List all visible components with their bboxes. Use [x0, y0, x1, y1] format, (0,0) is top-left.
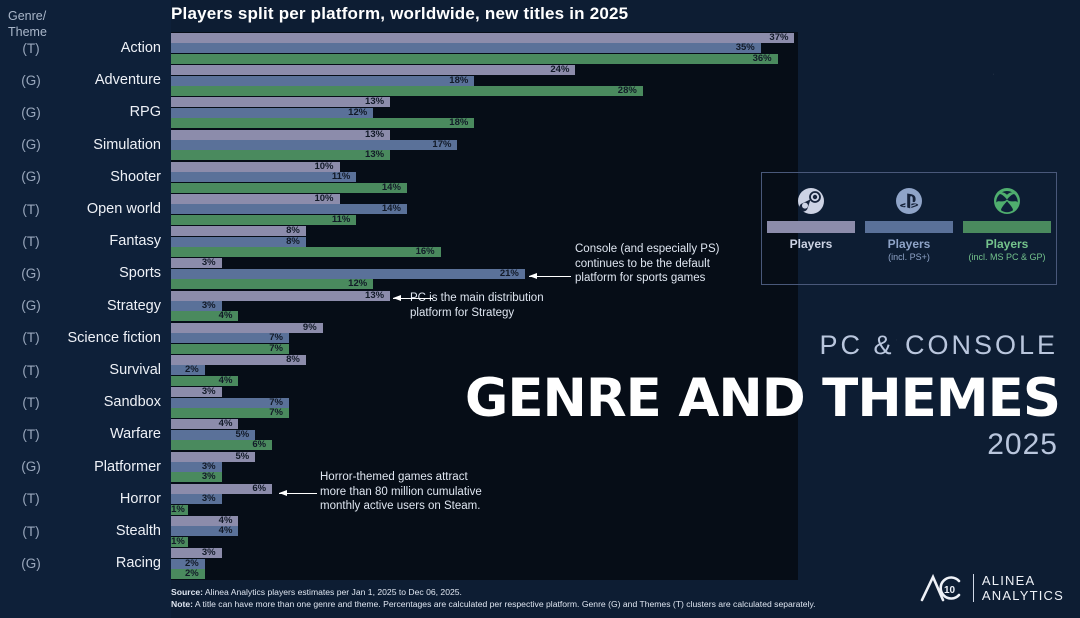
- alinea-analytics-logo: 10 ALINEA ANALYTICS: [919, 572, 1064, 604]
- bar-shooter-playstation: 11%: [171, 172, 356, 182]
- category-cluster-tag: (T): [0, 234, 62, 249]
- category-row: (G)Platformer: [0, 451, 171, 483]
- category-cluster-tag: (T): [0, 330, 62, 345]
- year-title: 2025: [987, 428, 1058, 462]
- category-label: Racing: [62, 555, 171, 571]
- category-row: (T)Warfare: [0, 418, 171, 450]
- bar-value-label: 2%: [185, 568, 199, 580]
- legend-label: Players: [767, 237, 855, 251]
- bar-value-label: 11%: [332, 171, 351, 183]
- footer-note-label: Note:: [171, 599, 193, 609]
- annotation-arrow-sports: [529, 276, 571, 277]
- bar-value-label: 3%: [202, 300, 216, 312]
- bar-shooter-steam: 10%: [171, 162, 340, 172]
- bar-value-label: 3%: [202, 493, 216, 505]
- category-row: (G)Adventure: [0, 64, 171, 96]
- footer-note: Note: A title can have more than one gen…: [171, 599, 931, 611]
- category-row: (T)Open world: [0, 193, 171, 225]
- bar-value-label: 13%: [365, 149, 384, 161]
- bar-value-label: 3%: [202, 257, 216, 269]
- bar-rpg-xbox: 18%: [171, 118, 474, 128]
- category-label: Simulation: [62, 137, 171, 153]
- bar-action-xbox: 36%: [171, 54, 778, 64]
- category-cluster-tag: (G): [0, 459, 62, 474]
- bar-value-label: 18%: [449, 117, 468, 129]
- bar-value-label: 18%: [449, 75, 468, 87]
- footer-source-text: Alinea Analytics players estimates per J…: [203, 587, 462, 597]
- bar-sandbox-steam: 3%: [171, 387, 222, 397]
- category-row: (G)Simulation: [0, 129, 171, 161]
- category-label: Platformer: [62, 459, 171, 475]
- sports-note-line-1: Console (and especially PS): [575, 242, 750, 257]
- bar-warfare-xbox: 6%: [171, 440, 272, 450]
- category-label: Horror: [62, 491, 171, 507]
- kicker-title: PC & CONSOLE: [819, 330, 1058, 361]
- bar-value-label: 4%: [219, 418, 233, 430]
- legend-item-playstation[interactable]: Players(incl. PS+): [865, 183, 953, 262]
- category-row: (G)Racing: [0, 547, 171, 579]
- bar-action-playstation: 35%: [171, 43, 761, 53]
- category-label: RPG: [62, 104, 171, 120]
- legend-sublabel: (incl. MS PC & GP): [963, 252, 1051, 262]
- logo-line-2: ANALYTICS: [982, 588, 1064, 603]
- bar-value-label: 17%: [432, 139, 451, 151]
- bar-simulation-steam: 13%: [171, 130, 390, 140]
- bar-value-label: 7%: [269, 407, 283, 419]
- xbox-icon: [963, 183, 1051, 219]
- category-row: (T)Action: [0, 32, 171, 64]
- category-cluster-tag: (T): [0, 524, 62, 539]
- footer-notes: Source: Alinea Analytics players estimat…: [171, 587, 931, 610]
- footer-source: Source: Alinea Analytics players estimat…: [171, 587, 931, 599]
- bar-value-label: 3%: [202, 386, 216, 398]
- category-label: Action: [62, 40, 171, 56]
- bar-strategy-xbox: 4%: [171, 311, 238, 321]
- category-label: Fantasy: [62, 233, 171, 249]
- bar-value-label: 12%: [348, 278, 367, 290]
- category-label: Stealth: [62, 523, 171, 539]
- annotation-sports: Console (and especially PS)continues to …: [575, 242, 750, 286]
- category-label: Shooter: [62, 169, 171, 185]
- bar-action-steam: 37%: [171, 33, 794, 43]
- bar-value-label: 12%: [348, 107, 367, 119]
- category-cluster-tag: (T): [0, 41, 62, 56]
- bar-value-label: 8%: [286, 354, 300, 366]
- bar-value-label: 2%: [185, 364, 199, 376]
- bar-platformer-xbox: 3%: [171, 472, 222, 482]
- legend-color-swatch: [767, 221, 855, 233]
- bar-open-world-playstation: 14%: [171, 204, 407, 214]
- category-label: Adventure: [62, 72, 171, 88]
- bar-warfare-playstation: 5%: [171, 430, 255, 440]
- category-cluster-tag: (G): [0, 105, 62, 120]
- category-cluster-tag: (G): [0, 137, 62, 152]
- bar-value-label: 9%: [303, 322, 317, 334]
- main-title: GENRE AND THEMES: [465, 368, 1060, 429]
- bar-adventure-xbox: 28%: [171, 86, 643, 96]
- legend-color-swatch: [963, 221, 1051, 233]
- bar-science-fiction-xbox: 7%: [171, 344, 289, 354]
- bar-value-label: 14%: [382, 182, 401, 194]
- horror-note-line-2: more than 80 million cumulative: [320, 485, 540, 500]
- annotation-strategy: PC is the main distributionplatform for …: [410, 291, 610, 320]
- bar-simulation-xbox: 13%: [171, 150, 390, 160]
- category-label: Sandbox: [62, 394, 171, 410]
- bar-simulation-playstation: 17%: [171, 140, 457, 150]
- category-row: (G)RPG: [0, 96, 171, 128]
- bar-value-label: 36%: [753, 53, 772, 65]
- bar-rpg-playstation: 12%: [171, 108, 373, 118]
- bar-value-label: 1%: [171, 504, 185, 516]
- category-label: Survival: [62, 362, 171, 378]
- category-cluster-tag: (G): [0, 73, 62, 88]
- horror-note-line-1: Horror-themed games attract: [320, 470, 540, 485]
- bar-value-label: 24%: [550, 64, 569, 76]
- bar-sports-xbox: 12%: [171, 279, 373, 289]
- category-cluster-tag: (T): [0, 202, 62, 217]
- category-label: Sports: [62, 265, 171, 281]
- bar-value-label: 16%: [416, 246, 435, 258]
- bar-value-label: 3%: [202, 547, 216, 559]
- bar-value-label: 13%: [365, 290, 384, 302]
- bar-sandbox-xbox: 7%: [171, 408, 289, 418]
- bar-value-label: 37%: [769, 32, 788, 44]
- category-cluster-tag: (G): [0, 556, 62, 571]
- legend-item-steam[interactable]: Players: [767, 183, 855, 252]
- strategy-note-line-2: platform for Strategy: [410, 306, 610, 321]
- legend-item-xbox[interactable]: Players(incl. MS PC & GP): [963, 183, 1051, 262]
- bar-value-label: 14%: [382, 203, 401, 215]
- bar-fantasy-playstation: 8%: [171, 237, 306, 247]
- bar-value-label: 13%: [365, 96, 384, 108]
- annotation-arrow-horror: [279, 493, 317, 494]
- bar-racing-xbox: 2%: [171, 569, 205, 579]
- chart-title: Players split per platform, worldwide, n…: [171, 4, 628, 24]
- category-cluster-tag: (G): [0, 298, 62, 313]
- bar-strategy-playstation: 3%: [171, 301, 222, 311]
- legend-sublabel: (incl. PS+): [865, 252, 953, 262]
- strategy-note-line-1: PC is the main distribution: [410, 291, 610, 306]
- category-label: Strategy: [62, 298, 171, 314]
- annotation-horror: Horror-themed games attractmore than 80 …: [320, 470, 540, 514]
- bar-value-label: 5%: [236, 429, 250, 441]
- footer-source-label: Source:: [171, 587, 203, 597]
- logo-wordmark: ALINEA ANALYTICS: [982, 573, 1064, 603]
- bar-survival-playstation: 2%: [171, 365, 205, 375]
- legend-label: Players: [865, 237, 953, 251]
- steam-icon: [767, 183, 855, 219]
- category-label: Warfare: [62, 426, 171, 442]
- logo-divider: [973, 574, 974, 602]
- playstation-icon: [865, 183, 953, 219]
- bar-science-fiction-steam: 9%: [171, 323, 323, 333]
- sports-note-line-3: platform for sports games: [575, 271, 750, 286]
- legend-color-swatch: [865, 221, 953, 233]
- bar-open-world-steam: 10%: [171, 194, 340, 204]
- category-row: (G)Strategy: [0, 290, 171, 322]
- bar-stealth-xbox: 1%: [171, 537, 188, 547]
- category-row: (T)Science fiction: [0, 322, 171, 354]
- category-label: Science fiction: [62, 330, 171, 346]
- bar-value-label: 7%: [269, 343, 283, 355]
- category-cluster-tag: (G): [0, 266, 62, 281]
- category-row: (G)Sports: [0, 257, 171, 289]
- bar-sports-steam: 3%: [171, 258, 222, 268]
- bar-horror-steam: 6%: [171, 484, 272, 494]
- category-row: (T)Horror: [0, 483, 171, 515]
- category-label-column: Genre/Theme (T)Action(G)Adventure(G)RPG(…: [0, 0, 171, 618]
- bar-shooter-xbox: 14%: [171, 183, 407, 193]
- bar-value-label: 13%: [365, 129, 384, 141]
- bar-open-world-xbox: 11%: [171, 215, 356, 225]
- bar-adventure-playstation: 18%: [171, 76, 474, 86]
- bar-value-label: 4%: [219, 375, 233, 387]
- bar-value-label: 21%: [500, 268, 519, 280]
- category-row: (T)Survival: [0, 354, 171, 386]
- annotation-arrow-strategy: [393, 298, 433, 299]
- bar-value-label: 8%: [286, 236, 300, 248]
- bar-value-label: 10%: [314, 193, 333, 205]
- bar-value-label: 4%: [219, 310, 233, 322]
- category-cluster-tag: (T): [0, 363, 62, 378]
- bar-value-label: 4%: [219, 525, 233, 537]
- category-row: (T)Stealth: [0, 515, 171, 547]
- bar-fantasy-xbox: 16%: [171, 247, 441, 257]
- category-row: (G)Shooter: [0, 161, 171, 193]
- platform-legend: PlayersPlayers(incl. PS+)Players(incl. M…: [761, 172, 1057, 285]
- bar-horror-xbox: 1%: [171, 505, 188, 515]
- bar-value-label: 28%: [618, 85, 637, 97]
- category-cluster-tag: (G): [0, 169, 62, 184]
- footer-note-text: A title can have more than one genre and…: [193, 599, 816, 609]
- category-label: Open world: [62, 201, 171, 217]
- category-cluster-tag: (T): [0, 491, 62, 506]
- legend-label: Players: [963, 237, 1051, 251]
- bar-value-label: 6%: [252, 439, 266, 451]
- logo-line-1: ALINEA: [982, 573, 1064, 588]
- bar-value-label: 6%: [252, 483, 266, 495]
- category-row: (T)Sandbox: [0, 386, 171, 418]
- bar-value-label: 1%: [171, 536, 185, 548]
- logo-mark-text: 10: [944, 585, 956, 596]
- bar-value-label: 3%: [202, 471, 216, 483]
- bar-value-label: 10%: [314, 161, 333, 173]
- bar-value-label: 11%: [332, 214, 351, 226]
- horror-note-line-3: monthly active users on Steam.: [320, 499, 540, 514]
- bar-value-label: 5%: [236, 451, 250, 463]
- bar-warfare-steam: 4%: [171, 419, 238, 429]
- bar-survival-xbox: 4%: [171, 376, 238, 386]
- logo-mark-icon: 10: [919, 572, 965, 604]
- category-cluster-tag: (T): [0, 427, 62, 442]
- axis-header-line-1: Genre/: [8, 8, 118, 24]
- category-row: (T)Fantasy: [0, 225, 171, 257]
- bar-adventure-steam: 24%: [171, 65, 575, 75]
- sports-note-line-2: continues to be the default: [575, 257, 750, 272]
- category-cluster-tag: (T): [0, 395, 62, 410]
